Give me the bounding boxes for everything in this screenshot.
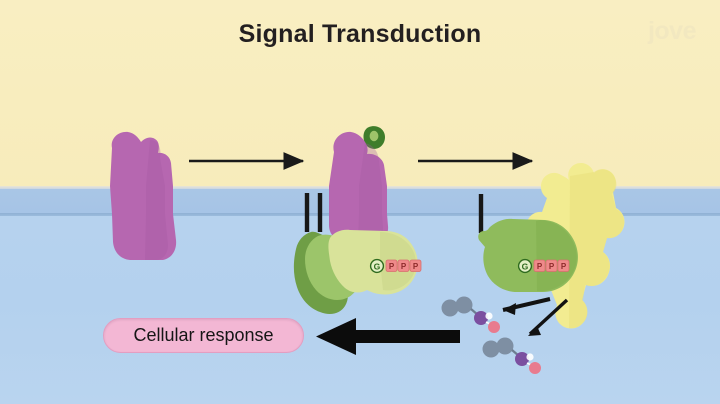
phosphate-letter-2: P (401, 262, 407, 271)
g-letter: G (522, 262, 529, 272)
phosphate-letter-2: P (549, 262, 555, 271)
arrow-effector-to-messenger-upper (503, 299, 550, 315)
g-letter: G (374, 262, 381, 272)
phosphate-letter-1: P (389, 262, 395, 271)
transmembrane-helices-stage-2 (307, 193, 320, 232)
second-messenger-molecule-1 (442, 297, 501, 334)
arrow-to-cellular-response (316, 318, 460, 355)
phosphate-letter-3: P (413, 262, 419, 271)
g-protein-nucleotide-badge-stage-3: G P P P (519, 260, 569, 273)
diagram-canvas: Signal Transduction jove (0, 0, 720, 404)
phosphate-letter-1: P (537, 262, 543, 271)
cellular-response-label: Cellular response (133, 325, 273, 346)
phosphate-letter-3: P (561, 262, 567, 271)
g-protein-nucleotide-badge-stage-2: G P P P (371, 260, 421, 273)
cellular-response-badge[interactable]: Cellular response (103, 318, 304, 353)
second-messenger-molecule-2 (483, 338, 542, 375)
effector-enzyme-shading (569, 169, 624, 328)
stage-2-group: G P P P (294, 126, 421, 314)
stage-1-receptor-group (110, 132, 176, 260)
stage-3-group: G P P P (478, 163, 624, 329)
